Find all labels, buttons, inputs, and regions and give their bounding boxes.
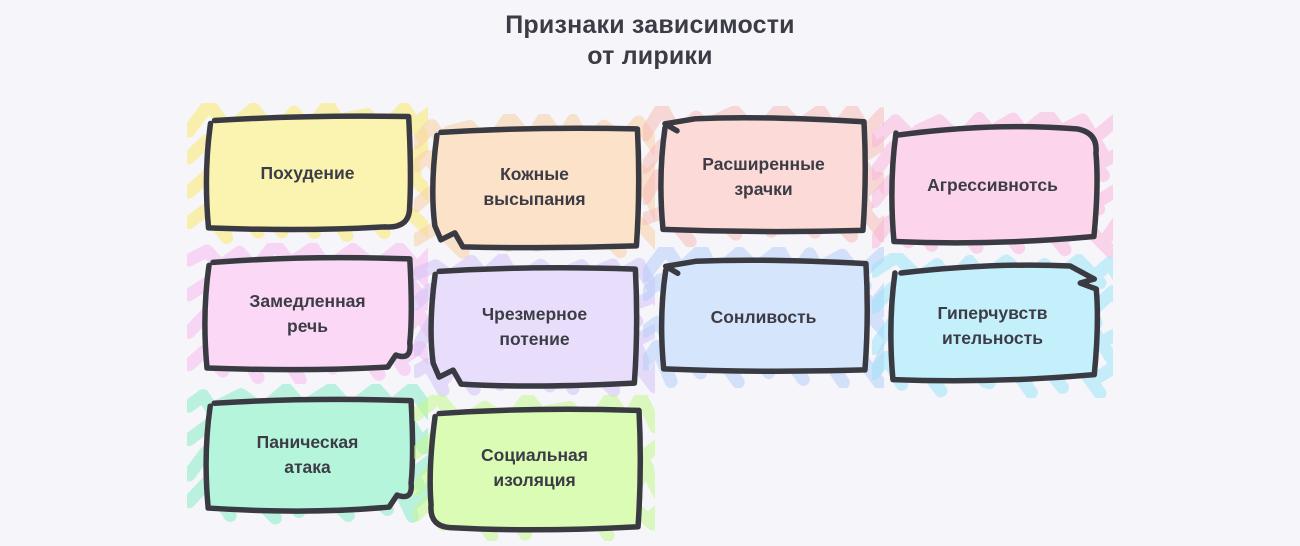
card-fill xyxy=(662,260,868,371)
card-fill xyxy=(431,268,637,386)
card-fill xyxy=(891,265,1098,381)
card-fill xyxy=(661,118,865,232)
symptom-card[interactable]: Расширенные зрачки xyxy=(659,120,868,233)
symptom-card[interactable]: Социальная изоляция xyxy=(430,409,639,527)
symptom-card[interactable]: Гиперчувств ительность xyxy=(888,267,1097,384)
card-sketch-shape xyxy=(659,261,868,374)
page-title: Признаки зависимости от лирики xyxy=(0,10,1300,72)
symptom-card[interactable]: Паническая атака xyxy=(203,398,412,511)
card-sketch-shape xyxy=(203,117,412,230)
card-sketch-shape xyxy=(203,257,412,370)
card-sketch-shape xyxy=(203,398,412,511)
symptom-card[interactable]: Похудение xyxy=(203,117,412,230)
card-fill xyxy=(430,409,640,530)
symptom-card[interactable]: Чрезмерное потение xyxy=(430,268,639,385)
card-sketch-shape xyxy=(430,268,639,385)
card-fill xyxy=(206,116,410,229)
card-sketch-shape xyxy=(888,126,1097,244)
card-fill xyxy=(206,399,412,511)
symptom-card[interactable]: Сонливость xyxy=(659,261,868,374)
card-sketch-shape xyxy=(430,409,639,527)
card-fill xyxy=(205,258,411,370)
symptom-card[interactable]: Замедленная речь xyxy=(203,257,412,370)
card-fill xyxy=(433,128,639,247)
card-sketch-shape xyxy=(430,128,639,246)
infographic-canvas: Признаки зависимости от лирики Похудение… xyxy=(0,0,1300,546)
card-sketch-shape xyxy=(888,267,1097,384)
symptom-card[interactable]: Кожные высыпания xyxy=(430,128,639,246)
symptom-card[interactable]: Агрессивнотсь xyxy=(888,126,1097,244)
card-sketch-shape xyxy=(659,120,868,233)
card-fill xyxy=(892,127,1097,243)
